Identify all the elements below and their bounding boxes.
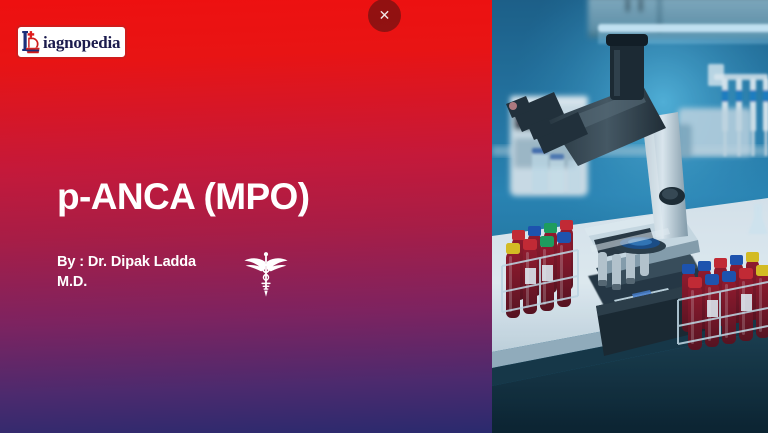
medical-cross-books-icon	[22, 29, 44, 55]
page-title: p-ANCA (MPO)	[57, 178, 477, 217]
author-byline: By : Dr. Dipak Ladda M.D.	[57, 253, 477, 302]
title-block: p-ANCA (MPO)	[57, 178, 477, 217]
author-name-line1: By : Dr. Dipak Ladda	[57, 254, 196, 270]
logo-wordmark: iagnopedia	[43, 34, 120, 51]
title-panel: iagnopedia p-ANCA (MPO) By : Dr. Dipak L…	[0, 0, 492, 433]
caduceus-icon	[243, 249, 289, 302]
author-name-line2: M.D.	[57, 274, 87, 290]
diagnopedia-logo[interactable]: iagnopedia	[16, 25, 127, 59]
close-button[interactable]: ✕	[368, 0, 401, 32]
close-icon: ✕	[379, 9, 391, 23]
author-name: By : Dr. Dipak Ladda M.D.	[57, 253, 237, 292]
presentation-slide: iagnopedia p-ANCA (MPO) By : Dr. Dipak L…	[0, 0, 768, 433]
lab-photograph	[492, 0, 768, 433]
